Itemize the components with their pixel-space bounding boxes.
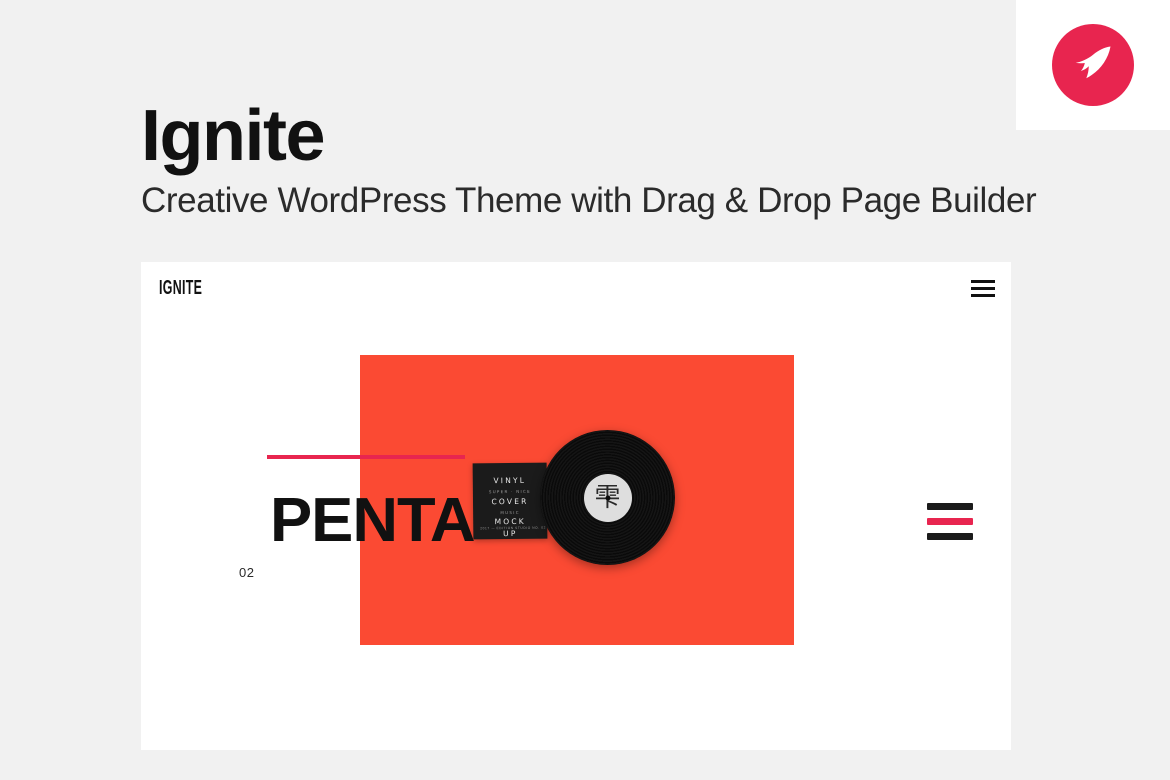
page-subtitle: Creative WordPress Theme with Drag & Dro… bbox=[141, 180, 1036, 222]
side-menu-bar-1 bbox=[927, 503, 973, 510]
theme-preview-card[interactable]: IGNITE 02 PENTA VINYL SUPER · NICE COVER… bbox=[141, 262, 1011, 750]
side-menu-bar-3 bbox=[927, 533, 973, 540]
preview-site-header: IGNITE bbox=[141, 262, 1011, 322]
hamburger-menu-icon[interactable] bbox=[971, 280, 995, 297]
vinyl-spindle-hole bbox=[605, 495, 610, 500]
album-sleeve-artwork: VINYL SUPER · NICE COVER MUSIC MOCK UP 2… bbox=[473, 463, 548, 540]
sleeve-corner-text: 2017 — EDITION STUDIO NO. 02 bbox=[480, 525, 546, 530]
page-title: Ignite bbox=[141, 100, 324, 172]
menu-bar-1 bbox=[971, 280, 995, 283]
hero-accent-rule bbox=[267, 455, 465, 459]
menu-bar-3 bbox=[971, 294, 995, 297]
slide-title: PENTA bbox=[270, 490, 475, 552]
sleeve-line-1: VINYL bbox=[473, 474, 547, 488]
vinyl-record: 雫 bbox=[540, 430, 675, 565]
sleeve-line-2: COVER bbox=[473, 495, 547, 509]
preview-site-logo[interactable]: IGNITE bbox=[159, 277, 202, 300]
hero-slide: 02 PENTA VINYL SUPER · NICE COVER MUSIC … bbox=[141, 322, 1011, 750]
hero-hamburger-menu-icon[interactable] bbox=[927, 503, 973, 540]
menu-bar-2 bbox=[971, 287, 995, 290]
brand-logo-badge bbox=[1016, 0, 1170, 130]
bird-swallow-icon bbox=[1052, 24, 1134, 106]
slide-number: 02 bbox=[239, 566, 254, 579]
side-menu-bar-2-accent bbox=[927, 518, 973, 525]
